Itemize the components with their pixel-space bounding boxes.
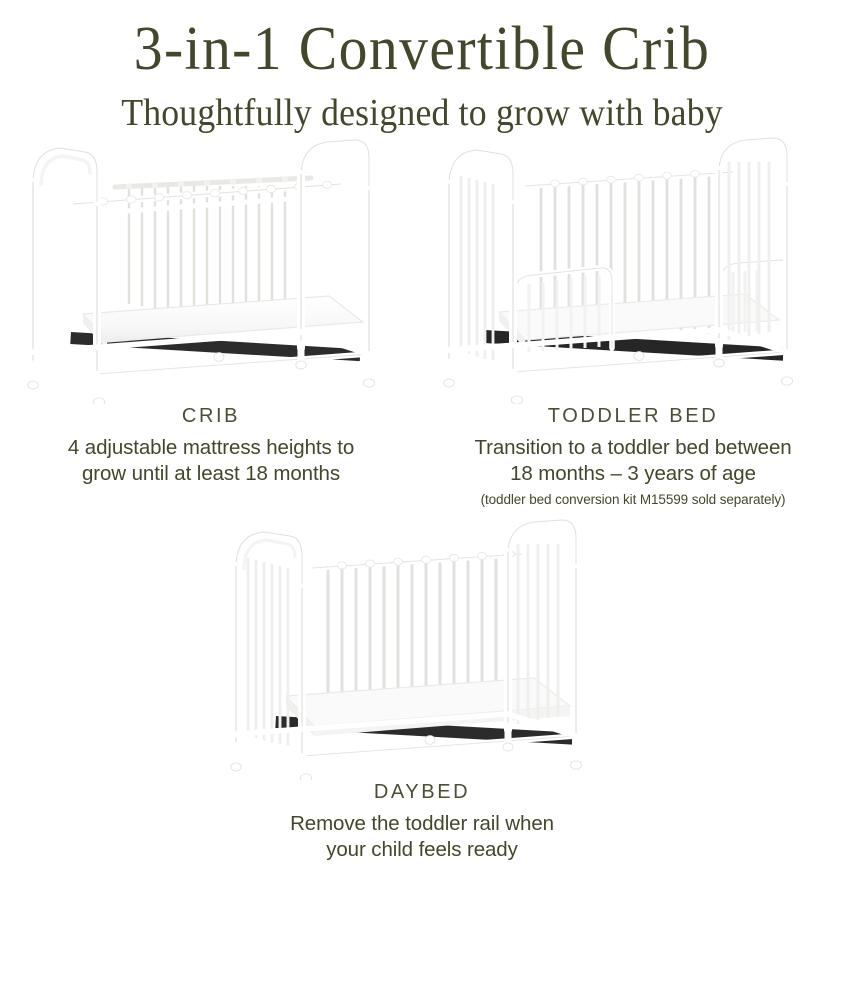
- product-row-2: DAYBED Remove the toddler rail when your…: [0, 510, 844, 863]
- toddler-bed-description: Transition to a toddler bed between 18 m…: [432, 435, 834, 487]
- toddler-bed-label: TODDLER BED: [432, 404, 834, 428]
- toddler-bed-note: (toddler bed conversion kit M15599 sold …: [432, 490, 834, 510]
- crib-description-line-1: 4 adjustable mattress heights to: [10, 435, 412, 461]
- product-card-daybed: DAYBED Remove the toddler rail when your…: [0, 510, 844, 863]
- product-row-1: CRIB 4 adjustable mattress heights to gr…: [0, 136, 844, 510]
- toddler-bed-illustration: [422, 136, 844, 404]
- crib-description-line-2: grow until at least 18 months: [10, 461, 412, 487]
- header: 3-in-1 Convertible Crib Thoughtfully des…: [0, 0, 844, 136]
- crib-illustration: [0, 136, 422, 404]
- daybed-description-line-1: Remove the toddler rail when: [290, 811, 554, 837]
- toddler-bed-description-line-2: 18 months – 3 years of age: [432, 461, 834, 487]
- page-title: 3-in-1 Convertible Crib: [30, 12, 815, 86]
- daybed-label: DAYBED: [290, 780, 554, 804]
- page-subtitle: Thoughtfully designed to grow with baby: [25, 90, 818, 136]
- toddler-bed-caption: TODDLER BED Transition to a toddler bed …: [422, 404, 844, 510]
- infographic-page: 3-in-1 Convertible Crib Thoughtfully des…: [0, 0, 844, 990]
- toddler-bed-description-line-1: Transition to a toddler bed between: [432, 435, 834, 461]
- crib-label: CRIB: [10, 404, 412, 428]
- daybed-description-line-2: your child feels ready: [290, 837, 554, 863]
- product-card-toddler-bed: TODDLER BED Transition to a toddler bed …: [422, 136, 844, 510]
- daybed-illustration: [0, 510, 844, 780]
- daybed-description: Remove the toddler rail when your child …: [290, 811, 554, 863]
- crib-caption: CRIB 4 adjustable mattress heights to gr…: [0, 404, 422, 487]
- daybed-caption: DAYBED Remove the toddler rail when your…: [280, 780, 564, 863]
- crib-description: 4 adjustable mattress heights to grow un…: [10, 435, 412, 487]
- product-card-crib: CRIB 4 adjustable mattress heights to gr…: [0, 136, 422, 510]
